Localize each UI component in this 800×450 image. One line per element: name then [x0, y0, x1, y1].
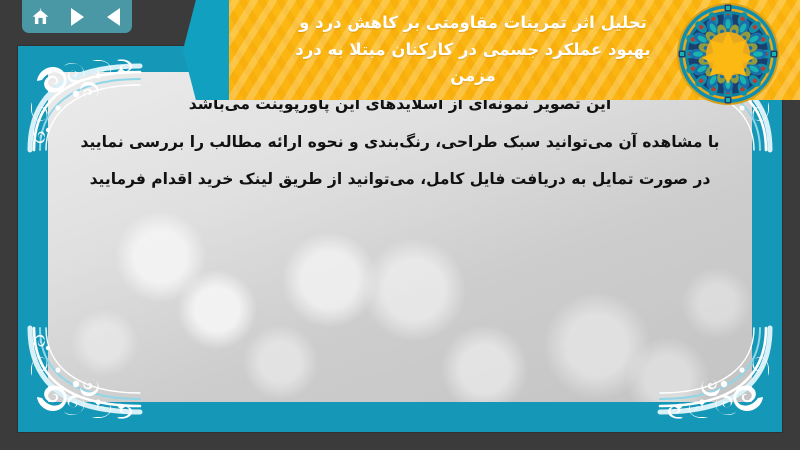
slide-viewer: تحلیل اثر تمرینات مقاومتی بر کاهش درد و … [0, 0, 800, 450]
slide-title-line-1: تحلیل اثر تمرینات مقاومتی بر کاهش درد و [206, 10, 740, 37]
slide-title-line-2: بهبود عملکرد جسمی در کارکنان مبتلا به در… [206, 37, 740, 64]
home-icon [30, 6, 51, 27]
slide-title-banner: تحلیل اثر تمرینات مقاومتی بر کاهش درد و … [206, 0, 800, 100]
prev-slide-button[interactable] [101, 4, 127, 30]
slide-title-line-3: مزمن [206, 63, 740, 90]
slide-navigation-bar [22, 0, 132, 33]
next-slide-button[interactable] [64, 4, 90, 30]
slide-body-text: این تصویر نمونه‌ای از اسلایدهای این پاور… [52, 86, 748, 199]
body-line-2: با مشاهده آن می‌توانید سبک طراحی، رنگ‌بن… [52, 124, 748, 162]
body-line-3: در صورت تمایل به دریافت فایل کامل، می‌تو… [52, 161, 748, 199]
home-button[interactable] [27, 4, 53, 30]
chevron-left-icon [107, 8, 120, 26]
chevron-right-icon [71, 8, 84, 26]
slide-title: تحلیل اثر تمرینات مقاومتی بر کاهش درد و … [206, 10, 740, 90]
